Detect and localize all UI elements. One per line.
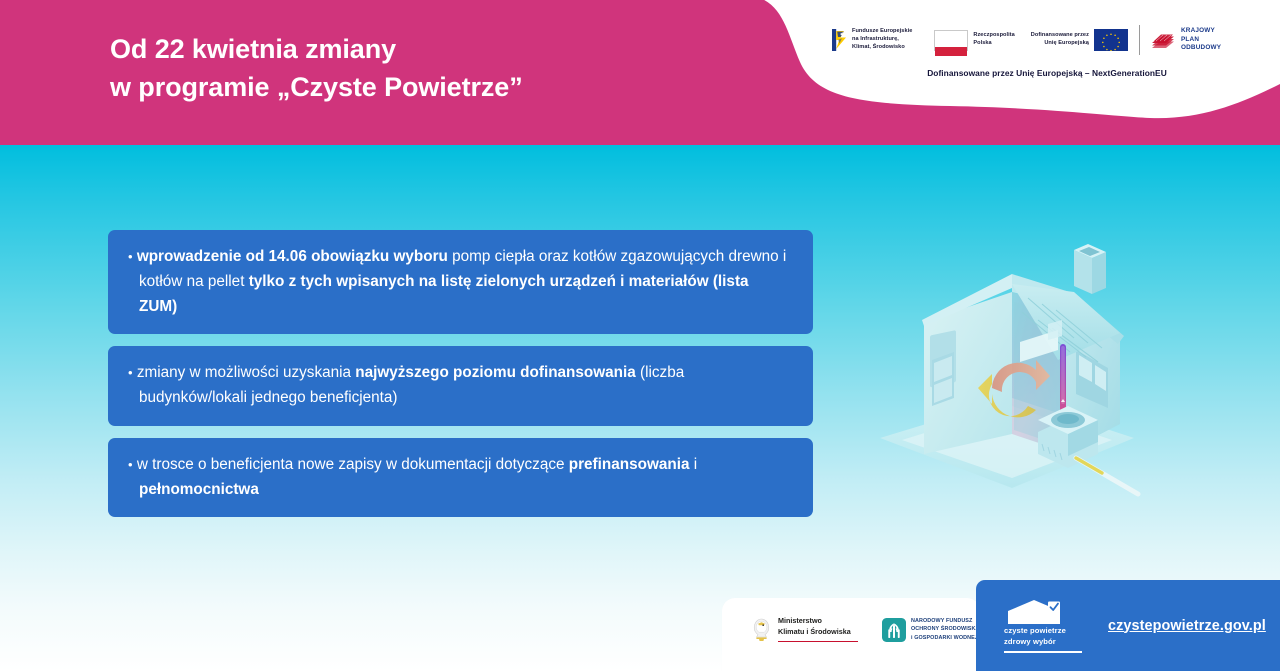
fe-line-1: Fundusze Europejskie	[852, 28, 912, 36]
kpo-line-1: KRAJOWY	[1181, 27, 1221, 36]
website-url-link[interactable]: czystepowietrze.gov.pl	[1108, 618, 1266, 634]
polish-eagle-icon	[750, 617, 773, 643]
bullet-rich-3: w trosce o beneficjenta nowe zapisy w do…	[137, 456, 697, 498]
eu-flag-icon	[1094, 29, 1128, 51]
bullet-dot: •	[128, 457, 133, 472]
bullet-rich-1: wprowadzenie od 14.06 obowiązku wyboru p…	[137, 248, 787, 315]
logo-krajowy-plan-odbudowy: KRAJOWY PLAN ODBUDOWY	[1151, 27, 1221, 53]
bullet-segment: i	[689, 456, 697, 473]
fundusze-europejskie-label: Fundusze Europejskie na Infrastrukturę, …	[852, 28, 912, 52]
logo-european-union: Dofinansowane przez Unię Europejską	[1031, 29, 1128, 51]
kpo-icon	[1151, 30, 1175, 50]
kpo-line-3: ODBUDOWY	[1181, 44, 1221, 53]
bullet-segment: prefinansowania	[569, 456, 690, 473]
title-line-1: Od 22 kwietnia zmiany	[110, 34, 396, 64]
ground-pipe	[1076, 458, 1138, 494]
fe-line-2: na Infrastrukturę,	[852, 36, 912, 44]
eu-stars-icon	[1094, 29, 1128, 51]
bullet-rich-2: zmiany w możliwości uzyskania najwyższeg…	[137, 364, 684, 406]
rp-line-2: Polska	[973, 40, 1014, 48]
fundusze-europejskie-icon	[832, 29, 847, 51]
title-line-2: w programie „Czyste Powietrze”	[110, 68, 730, 106]
bullet-dot: •	[128, 249, 133, 264]
bullet-box-1: • wprowadzenie od 14.06 obowiązku wyboru…	[108, 230, 813, 334]
logo-czyste-powietrze: czyste powietrze zdrowy wybór	[1004, 598, 1082, 653]
page-title: Od 22 kwietnia zmiany w programie „Czyst…	[110, 30, 730, 107]
bullet-box-list: • wprowadzenie od 14.06 obowiązku wyboru…	[108, 230, 813, 529]
ministerstwo-red-rule	[778, 641, 858, 643]
nfos-line-2: OCHRONY ŚRODOWISKA	[911, 625, 980, 634]
nfos-line-1: NARODOWY FUNDUSZ	[911, 617, 980, 626]
logo-divider	[1139, 25, 1140, 55]
ue-line-2: Unię Europejską	[1031, 40, 1089, 48]
mks-line-1: Ministerstwo	[778, 616, 858, 627]
logo-fundusze-europejskie: Fundusze Europejskie na Infrastrukturę, …	[832, 28, 912, 52]
czyste-powietrze-label: czyste powietrze zdrowy wybór	[1004, 626, 1082, 648]
bullet-box-2: • zmiany w możliwości uzyskania najwyższ…	[108, 346, 813, 426]
poster-canvas: Od 22 kwietnia zmiany w programie „Czyst…	[0, 0, 1280, 671]
bullet-text-3: • w trosce o beneficjenta nowe zapisy w …	[128, 453, 791, 503]
bullet-segment: wprowadzenie od 14.06 obowiązku wyboru	[137, 248, 452, 265]
logo-ministerstwo-klimatu: Ministerstwo Klimatu i Środowiska	[750, 616, 858, 643]
footer-blue-bar: czyste powietrze zdrowy wybór czystepowi…	[976, 580, 1280, 671]
logo-nfosigw: NARODOWY FUNDUSZ OCHRONY ŚRODOWISKA i GO…	[882, 617, 980, 643]
bullet-segment: pełnomocnictwa	[139, 481, 259, 498]
rzeczpospolita-label: Rzeczpospolita Polska	[973, 32, 1014, 48]
house-chimney	[1074, 244, 1106, 294]
nfosigw-label: NARODOWY FUNDUSZ OCHRONY ŚRODOWISKA i GO…	[911, 617, 980, 643]
bullet-dot: •	[128, 365, 133, 380]
european-union-label: Dofinansowane przez Unię Europejską	[1031, 32, 1089, 48]
bullet-segment: najwyższego poziomu dofinansowania	[355, 364, 635, 381]
nfos-line-3: i GOSPODARKI WODNEJ	[911, 634, 980, 643]
kpo-line-2: PLAN	[1181, 36, 1221, 45]
fe-line-3: Klimat, Środowisko	[852, 44, 912, 52]
cp-underline	[1004, 651, 1082, 653]
bullet-text-1: • wprowadzenie od 14.06 obowiązku wyboru…	[128, 245, 791, 319]
nfosigw-tree-icon	[882, 618, 906, 642]
isometric-house-illustration	[862, 202, 1162, 502]
poland-flag-icon	[934, 30, 968, 51]
cp-line-1: czyste powietrze	[1004, 626, 1082, 637]
kpo-label: KRAJOWY PLAN ODBUDOWY	[1181, 27, 1221, 53]
rp-line-1: Rzeczpospolita	[973, 32, 1014, 40]
bullet-box-3: • w trosce o beneficjenta nowe zapisy w …	[108, 438, 813, 518]
funding-statement: Dofinansowane przez Unię Europejską – Ne…	[832, 68, 1262, 78]
bullet-segment: w trosce o beneficjenta nowe zapisy w do…	[137, 456, 569, 473]
mks-line-2: Klimatu i Środowiska	[778, 627, 858, 638]
bullet-text-2: • zmiany w możliwości uzyskania najwyższ…	[128, 361, 791, 411]
eu-logo-strip: Fundusze Europejskie na Infrastrukturę, …	[832, 18, 1262, 62]
bullet-segment: zmiany w możliwości uzyskania	[137, 364, 355, 381]
ue-line-1: Dofinansowane przez	[1031, 32, 1089, 40]
ministerstwo-label: Ministerstwo Klimatu i Środowiska	[778, 616, 858, 638]
logo-rzeczpospolita-polska: Rzeczpospolita Polska	[934, 30, 1014, 51]
thermometer-icon	[1060, 344, 1066, 418]
czyste-powietrze-house-icon	[1004, 598, 1082, 624]
footer-logo-group: Ministerstwo Klimatu i Środowiska	[750, 616, 980, 643]
cp-line-2: zdrowy wybór	[1004, 637, 1082, 648]
